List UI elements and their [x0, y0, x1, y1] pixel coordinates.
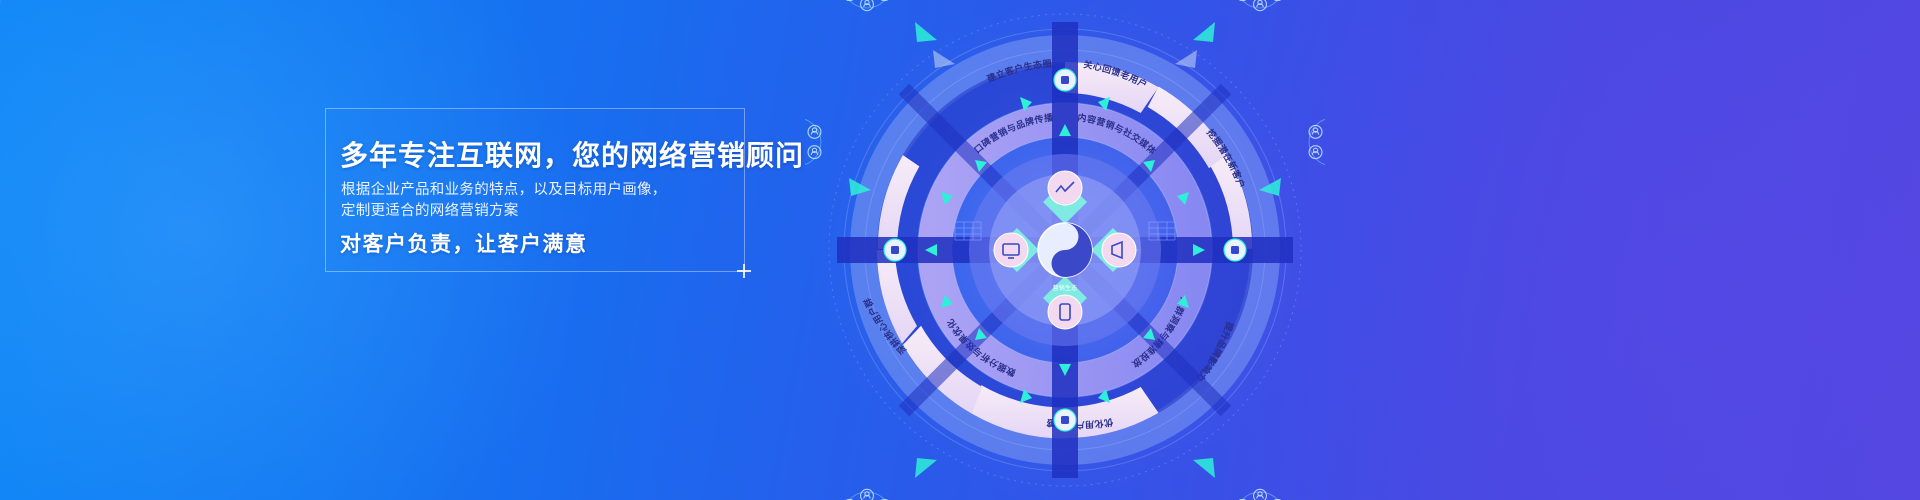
marketing-ecosystem-wheel: 建立客户生态圈 关心回馈老用户 挖掘潜在新客户 提升品牌影响力 优化用户体验感	[805, 0, 1325, 500]
page-title: 多年专注互联网，您的网络营销顾问	[340, 134, 760, 174]
subtitle-line-1: 根据企业产品和业务的特点，以及目标用户画像，	[341, 180, 741, 201]
lock-icon-w	[891, 246, 899, 254]
hub-node-mobile	[1048, 295, 1082, 329]
hub-node-chart	[1048, 171, 1082, 205]
hub-node-megaphone	[1102, 233, 1136, 267]
user-network-cluster-e	[1309, 115, 1325, 168]
user-network-cluster-nw	[843, 0, 891, 11]
subtitle-block: 根据企业产品和业务的特点，以及目标用户画像， 定制更适合的网络营销方案	[341, 180, 741, 222]
user-network-cluster-w	[805, 115, 821, 168]
wheel-hub: 营销生态	[969, 154, 1161, 346]
wheel-svg: 建立客户生态圈 关心回馈老用户 挖掘潜在新客户 提升品牌影响力 优化用户体验感	[805, 0, 1325, 500]
user-network-cluster-ne	[1236, 0, 1284, 11]
tagline: 对客户负责，让客户满意	[340, 228, 760, 258]
lock-icon-e	[1231, 246, 1239, 254]
corner-cross-marker-icon	[737, 264, 751, 278]
lock-icon-s	[1061, 416, 1069, 424]
hub-center-label: 营销生态	[1053, 284, 1078, 292]
hero-banner: 多年专注互联网，您的网络营销顾问 根据企业产品和业务的特点，以及目标用户画像， …	[0, 0, 1920, 500]
lock-icon-n	[1061, 76, 1069, 84]
user-network-cluster-se	[1236, 489, 1284, 500]
hub-node-monitor	[994, 233, 1028, 267]
subtitle-line-2: 定制更适合的网络营销方案	[341, 201, 741, 222]
user-network-cluster-sw	[843, 489, 891, 500]
